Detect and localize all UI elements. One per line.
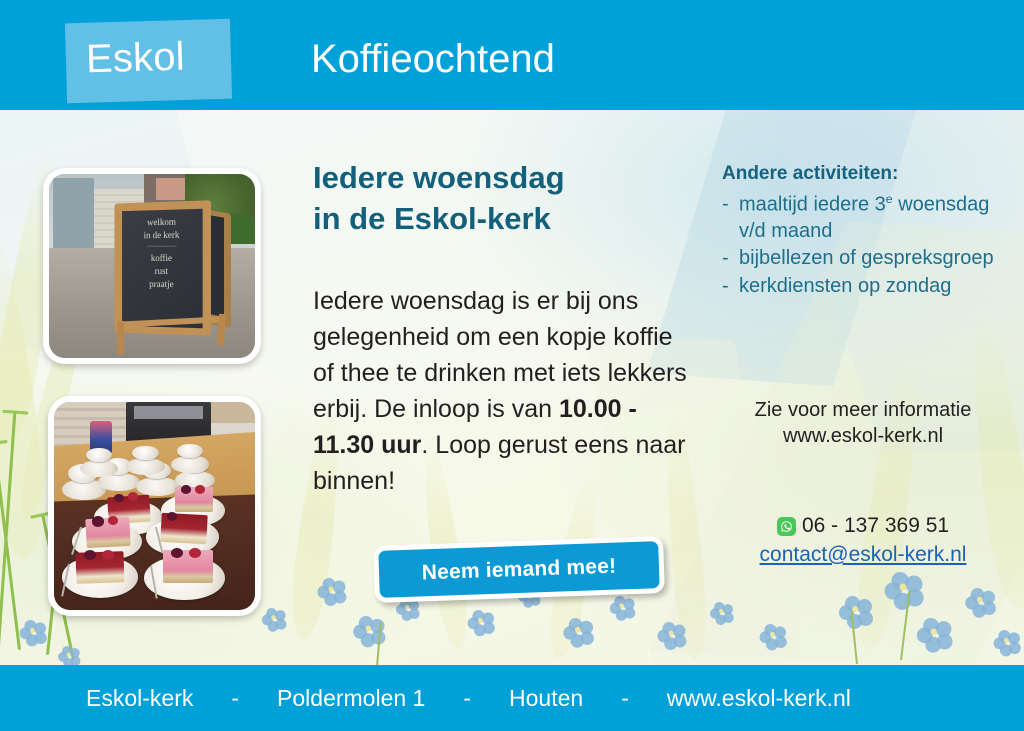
whatsapp-phone-row[interactable]: 06 - 137 369 51 — [702, 514, 1024, 538]
body-paragraph: Iedere woensdag is er bij ons gelegenhei… — [313, 283, 688, 499]
saucer — [126, 458, 164, 475]
page-title: Koffieochtend — [311, 37, 555, 82]
activity-item: - bijbellezen of gespreksgroep — [722, 245, 1012, 271]
activities-title: Andere activiteiten: — [722, 163, 898, 185]
berry — [92, 516, 104, 526]
list-dash: - — [722, 245, 739, 271]
photo-cakes-content — [54, 402, 255, 610]
footer-address: Poldermolen 1 — [277, 685, 425, 712]
contact-block: 06 - 137 369 51 contact@eskol-kerk.nl — [702, 514, 1024, 567]
footer-separator: - — [231, 685, 239, 712]
bring-someone-button-label: Neem iemand mee! — [421, 554, 616, 585]
chalkboard-leg — [117, 321, 124, 354]
list-dash: - — [722, 273, 739, 299]
berry — [171, 548, 183, 558]
chalkboard-slate: welkom in de kerk ~~~~~~~~ koffie rust p… — [122, 208, 203, 327]
saucer — [80, 460, 118, 477]
email-link[interactable]: contact@eskol-kerk.nl — [760, 543, 967, 567]
activity-text: maaltijd iedere 3e woensdag v/d maand — [739, 191, 1012, 244]
cherry-cake-slice — [76, 551, 125, 584]
footer-organisation: Eskol-kerk — [86, 685, 193, 712]
berry — [108, 516, 118, 524]
activity-text: kerkdiensten op zondag — [739, 273, 951, 299]
chalk-line: koffie — [125, 251, 198, 264]
footer-separator: - — [463, 685, 471, 712]
more-information-website: www.eskol-kerk.nl — [702, 423, 1024, 449]
headline-line-2: in de Eskol-kerk — [313, 198, 703, 239]
berry — [114, 494, 124, 502]
poster: Eskol Koffieochtend welkom in de kerk ~~… — [0, 0, 1024, 731]
activity-text: bijbellezen of gespreksgroep — [739, 245, 994, 271]
chalk-line: rust — [125, 265, 198, 278]
headline-line-1: Iedere woensdag — [313, 157, 703, 198]
header-bar: Eskol Koffieochtend — [0, 0, 1024, 110]
footer-city: Houten — [509, 685, 583, 712]
photo-chalkboard-content: welkom in de kerk ~~~~~~~~ koffie rust p… — [49, 174, 255, 358]
whatsapp-icon — [777, 517, 796, 536]
phone-number: 06 - 137 369 51 — [802, 514, 949, 538]
bring-someone-button[interactable]: Neem iemand mee! — [373, 536, 665, 603]
chalk-line: praatje — [125, 278, 198, 292]
berry — [181, 485, 191, 493]
chalkboard-frame: welkom in de kerk ~~~~~~~~ koffie rust p… — [114, 200, 210, 336]
photo-cakes-and-coffee — [48, 396, 261, 616]
list-dash: - — [722, 191, 739, 244]
more-information-line-1: Zie voor meer informatie — [702, 397, 1024, 423]
berry — [189, 548, 201, 558]
headline: Iedere woensdag in de Eskol-kerk — [313, 157, 703, 239]
photo-door — [53, 178, 94, 248]
activity-item: - maaltijd iedere 3e woensdag v/d maand — [722, 191, 1012, 244]
photo-appliance-panel — [134, 406, 202, 418]
activity-item: - kerkdiensten op zondag — [722, 273, 1012, 299]
more-information: Zie voor meer informatie www.eskol-kerk.… — [702, 397, 1024, 450]
berry — [195, 485, 205, 493]
chalk-line: in de kerk — [125, 228, 198, 242]
activity-text-main: maaltijd iedere 3 — [739, 194, 886, 216]
saucer — [171, 456, 209, 473]
coffee-cup — [132, 446, 158, 461]
saucer — [136, 477, 178, 496]
photo-building-accent — [156, 178, 185, 200]
footer-content: Eskol-kerk - Poldermolen 1 - Houten - ww… — [86, 685, 851, 712]
photo-chalkboard-sign: welkom in de kerk ~~~~~~~~ koffie rust p… — [43, 168, 261, 364]
footer-separator: - — [621, 685, 629, 712]
footer-website: www.eskol-kerk.nl — [667, 685, 851, 712]
pink-cake-slice — [163, 550, 213, 583]
chalkboard-text: welkom in de kerk ~~~~~~~~ koffie rust p… — [122, 208, 203, 327]
activities-list: - maaltijd iedere 3e woensdag v/d maand … — [722, 191, 1012, 300]
footer-bar: Eskol-kerk - Poldermolen 1 - Houten - ww… — [0, 665, 1024, 731]
berry — [167, 512, 177, 520]
activity-text-superscript: e — [886, 192, 893, 206]
logo-text: Eskol — [85, 35, 185, 83]
chalk-line: welkom — [125, 215, 198, 230]
coffee-cup — [177, 444, 203, 459]
